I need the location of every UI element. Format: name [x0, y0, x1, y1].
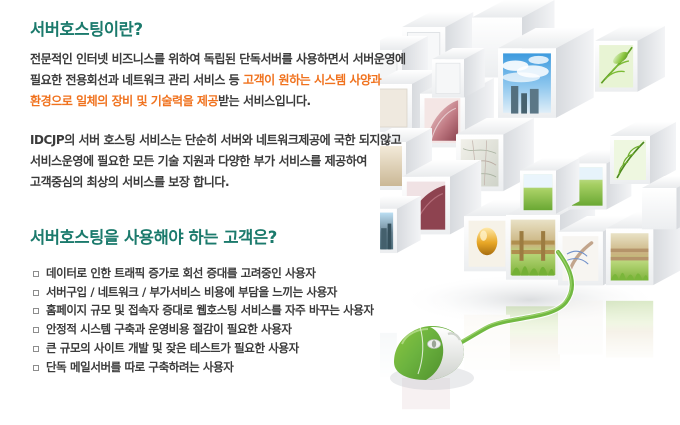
square-bullet-icon: [33, 271, 39, 277]
list-item: 서버구입 / 네트워크 / 부가서비스 비용에 부담을 느끼는 사용자: [32, 283, 432, 302]
list-item-label: 데이터로 인한 트래픽 증가로 회선 증대를 고려중인 사용자: [46, 266, 316, 280]
list-item: 큰 규모의 사이트 개발 및 잦은 테스트가 필요한 사용자: [32, 339, 432, 358]
list-item: 안정적 시스템 구축과 운영비용 절감이 필요한 사용자: [32, 320, 432, 339]
page-title-section-2: 서버호스팅을 사용해야 하는 고객은?: [30, 228, 277, 248]
paragraph-line: IDCJP의 서버 호스팅 서비스는 단순히 서버와 네트워크제공에 국한 되지…: [30, 133, 401, 147]
paragraph-line: 전문적인 인터넷 비즈니스를 위하여 독립된 단독서버를 사용하면서 서버운영에: [30, 52, 406, 66]
paragraph-line: 고객중심의 최상의 서비스를 보장 합니다.: [30, 175, 229, 189]
square-bullet-icon: [33, 290, 39, 296]
paragraph-line: 서비스운영에 필요한 모든 기술 지원과 다양한 부가 서비스를 제공하여: [30, 154, 367, 168]
list-item: 단독 메일서버를 따로 구축하려는 사용자: [32, 358, 432, 377]
list-item-label: 큰 규모의 사이트 개발 및 잦은 테스트가 필요한 사용자: [46, 341, 299, 355]
list-item-label: 홈페이지 규모 및 접속자 증대로 웹호스팅 서비스를 자주 바꾸는 사용자: [46, 303, 374, 317]
intro-paragraph-2: IDCJP의 서버 호스팅 서비스는 단순히 서버와 네트워크제공에 국한 되지…: [30, 130, 430, 193]
list-item: 홈페이지 규모 및 접속자 증대로 웹호스팅 서비스를 자주 바꾸는 사용자: [32, 301, 432, 320]
intro-paragraph-1: 전문적인 인터넷 비즈니스를 위하여 독립된 단독서버를 사용하면서 서버운영에…: [30, 49, 430, 112]
list-item-label: 단독 메일서버를 따로 구축하려는 사용자: [46, 360, 233, 374]
square-bullet-icon: [33, 308, 39, 314]
highlighted-text: 고객이 원하는 시스템 사양과: [243, 73, 381, 87]
paragraph-line: 필요한 전용회선과 네트워크 관리 서비스 등: [30, 73, 243, 87]
list-item: 데이터로 인한 트래픽 증가로 회선 증대를 고려중인 사용자: [32, 264, 432, 283]
list-item-label: 서버구입 / 네트워크 / 부가서비스 비용에 부담을 느끼는 사용자: [46, 285, 337, 299]
page-root: 서버호스팅이란? 전문적인 인터넷 비즈니스를 위하여 독립된 단독서버를 사용…: [0, 0, 680, 425]
square-bullet-icon: [33, 365, 39, 371]
target-customer-list: 데이터로 인한 트래픽 증가로 회선 증대를 고려중인 사용자 서버구입 / 네…: [32, 264, 432, 376]
highlighted-text: 환경으로 일체의 장비 및 기술력을 제공: [30, 94, 218, 108]
paragraph-line: 받는 서비스입니다.: [218, 94, 311, 108]
square-bullet-icon: [33, 346, 39, 352]
page-title-section-1: 서버호스팅이란?: [30, 20, 143, 40]
list-item-label: 안정적 시스템 구축과 운영비용 절감이 필요한 사용자: [46, 322, 292, 336]
square-bullet-icon: [33, 327, 39, 333]
